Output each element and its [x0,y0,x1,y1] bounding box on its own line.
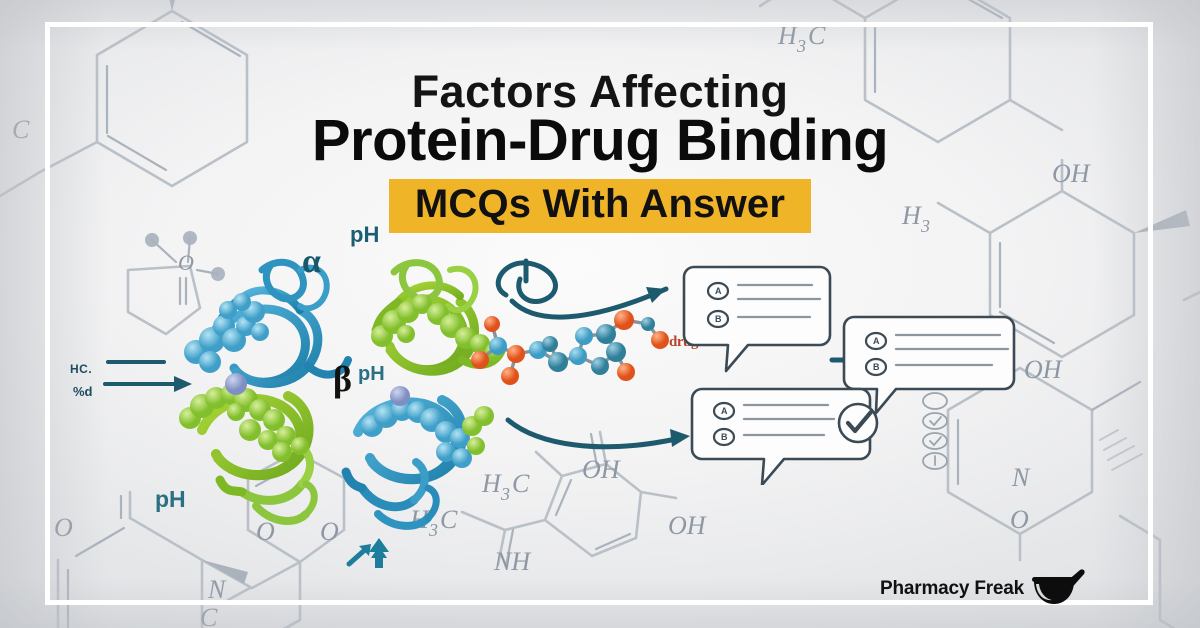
mini-teal-arrows [345,528,405,576]
svg-text:OH: OH [1024,355,1063,384]
answer-check-icon [839,404,877,442]
mortar-and-pestle-icon [1030,568,1086,610]
brand-watermark: Pharmacy Freak [880,568,1086,610]
mcq-bubble-top: A B [684,267,830,371]
poster-canvas: .bl { fill:none; stroke:#b9c0c8; stroke-… [0,0,1200,628]
status-info-icon [923,453,947,469]
hc-label: HC. [70,362,92,376]
status-checklist-icons [915,392,955,472]
svg-text:B: B [721,432,728,442]
ph-label-bottom-left: pH [155,486,186,513]
svg-text:C: C [200,603,218,628]
status-empty-icon [923,393,947,409]
status-check-2-icon [923,433,947,449]
swirl-loop-icon [498,261,555,302]
alpha-subunit-label: α [302,243,321,281]
subtitle-highlight: MCQs With Answer [389,179,811,233]
title-line-2: Protein-Drug Binding [0,111,1200,172]
brand-name: Pharmacy Freak [880,578,1024,600]
svg-text:OH: OH [668,511,707,540]
svg-text:B: B [873,362,880,372]
svg-text:B: B [715,314,722,324]
svg-text:N: N [207,575,227,604]
subunit-alpha-top-left [184,262,348,383]
svg-text:C: C [808,21,826,50]
poster-title-block: Factors Affecting Protein-Drug Binding M… [0,68,1200,233]
status-check-1-icon [923,413,947,429]
svg-text:O: O [1010,505,1029,534]
arrow-to-bottom-bubble [508,420,690,447]
svg-text:H: H [777,21,798,50]
arrow-up-icon [369,538,389,568]
svg-text:A: A [715,286,722,296]
hatch-bonds [1100,430,1142,470]
ph-label-middle: pH [358,363,385,386]
mcq-bubble-bottom: A B [692,389,877,485]
svg-text:O: O [54,513,73,542]
arrow-upright-icon [349,544,371,564]
svg-text:A: A [873,336,880,346]
svg-text:A: A [721,406,728,416]
svg-text:3: 3 [796,36,806,56]
beta-subunit-label: β [333,358,352,400]
svg-text:NH: NH [493,547,531,576]
percent-d-label: %d [73,384,93,399]
